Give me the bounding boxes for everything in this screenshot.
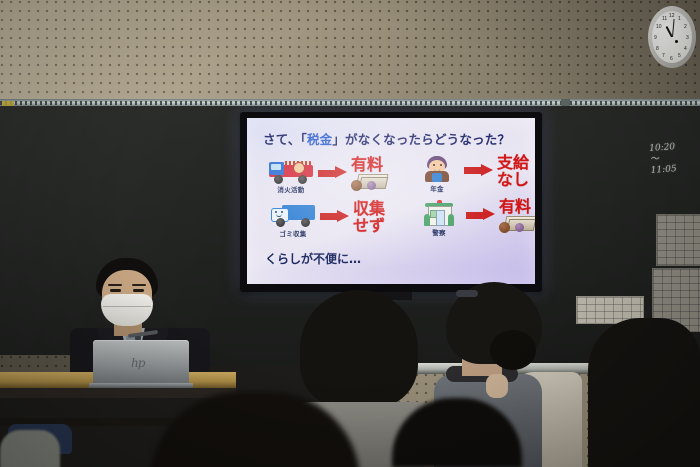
- clock-numeral-7: 7: [662, 53, 665, 59]
- student-foreground-far-left: [0, 430, 60, 467]
- student-foreground-right: [588, 318, 700, 467]
- money-icon: [499, 216, 533, 233]
- teacher-eyebrow-right: [132, 284, 146, 286]
- slide-row-police: 警察 有料: [415, 198, 533, 239]
- slide-row-3-label: 年金: [430, 183, 444, 193]
- slide-row-1-icon-cell: 消火活動: [267, 159, 315, 194]
- police-box-icon: [424, 200, 454, 226]
- student-center-hair: [300, 290, 418, 408]
- face-mask-icon: [101, 294, 153, 326]
- slide-row-2-label: ゴミ収集: [279, 228, 306, 238]
- slide-row-pension: 年金 支給 なし: [413, 154, 529, 194]
- wall-rail-perforations: [0, 101, 700, 105]
- elderly-person-icon: [422, 156, 452, 182]
- student-right-hand: [486, 374, 508, 398]
- slide-row-1-result-text: 有料: [351, 156, 383, 173]
- wall-clock: 12 1 2 3 4 5 6 7 8 9 10 11: [648, 6, 696, 68]
- clock-numeral-6: 6: [670, 56, 673, 62]
- slide-row-2-icon-cell: ゴミ収集: [269, 203, 317, 238]
- student-foreground-left-hair: [150, 392, 360, 467]
- slide-row-3-icon-cell: 年金: [413, 156, 461, 193]
- monitor-screen: さて、「税金」がなくなったらどうなった？ 消火活動: [247, 118, 535, 284]
- chalkboard-time-note: 10:20 〜 11:05: [649, 142, 677, 177]
- right-arrow-icon: [320, 210, 350, 223]
- slide-row-4-label: 警察: [432, 227, 446, 237]
- slide-footer-text: くらしが不便に…: [265, 250, 361, 267]
- clock-numeral-4: 4: [684, 46, 687, 52]
- teacher-eye-left: [110, 289, 121, 292]
- clock-numeral-10: 10: [656, 24, 662, 30]
- right-arrow-icon: [318, 166, 348, 179]
- hp-logo: hp: [131, 356, 144, 370]
- presentation-monitor[interactable]: さて、「税金」がなくなったらどうなった？ 消火活動: [240, 112, 542, 292]
- teacher-eye-right: [133, 289, 144, 292]
- clock-center-pin: [675, 40, 678, 43]
- clock-numeral-9: 9: [654, 35, 657, 41]
- clock-numeral-11: 11: [662, 16, 667, 22]
- face-mask-fold: [103, 306, 151, 307]
- chalk-note-line-3: 11:05: [650, 164, 677, 177]
- classroom-scene: 12 1 2 3 4 5 6 7 8 9 10 11 10:20 〜 11:05: [0, 0, 700, 467]
- laptop-camera-icon: [135, 336, 141, 340]
- right-arrow-icon: [466, 208, 496, 221]
- slide-row-4-result-text: 有料: [499, 198, 531, 215]
- slide-row-4-result: 有料: [499, 198, 533, 233]
- student-right-hair-bun: [490, 330, 536, 370]
- clock-numeral-2: 2: [684, 24, 687, 30]
- clock-minute-hand: [672, 19, 675, 37]
- clock-numeral-3: 3: [686, 35, 689, 41]
- clock-numeral-1: 1: [678, 16, 681, 22]
- teacher-eyebrow-left: [108, 284, 122, 286]
- slide-row-fire-fighting: 消火活動 有料: [267, 156, 385, 197]
- fire-truck-icon: [269, 159, 313, 183]
- clock-numeral-5: 5: [678, 53, 681, 59]
- slide-row-3-result-line-2: なし: [497, 171, 529, 188]
- clock-numeral-8: 8: [656, 46, 659, 52]
- wall-chart-grid-1: [656, 214, 700, 266]
- laptop[interactable]: hp: [93, 340, 189, 388]
- garbage-truck-icon: [271, 203, 315, 227]
- money-icon: [351, 174, 385, 191]
- slide-row-2-result-line-1: 収集: [353, 200, 385, 217]
- slide-title: さて、「税金」がなくなったらどうなった？: [263, 129, 510, 148]
- student-foreground-left: [150, 392, 380, 467]
- slide-title-prefix: さて、「: [263, 132, 307, 147]
- slide-row-3-result: 支給 なし: [497, 154, 529, 188]
- slide-row-2-result-line-2: せず: [353, 217, 385, 234]
- student-right-hair-clip: [456, 290, 478, 297]
- slide-row-garbage-collection: ゴミ収集 収集 せず: [269, 200, 385, 240]
- slide-row-1-result: 有料: [351, 156, 385, 191]
- clock-face: 12 1 2 3 4 5 6 7 8 9 10 11: [652, 11, 692, 63]
- slide-title-suffix: 」がなくなったらどうなった？: [332, 132, 510, 147]
- chalk-note-line-1: 10:20: [649, 142, 676, 155]
- slide-row-2-result: 収集 せず: [353, 200, 385, 234]
- wall-shading: [0, 0, 700, 103]
- right-arrow-icon: [464, 164, 494, 177]
- slide-row-3-result-line-1: 支給: [497, 154, 529, 171]
- slide-title-highlight: 税金: [307, 132, 332, 147]
- slide-row-1-label: 消火活動: [277, 184, 304, 194]
- slide-row-4-icon-cell: 警察: [415, 200, 463, 237]
- laptop-base: [89, 383, 193, 388]
